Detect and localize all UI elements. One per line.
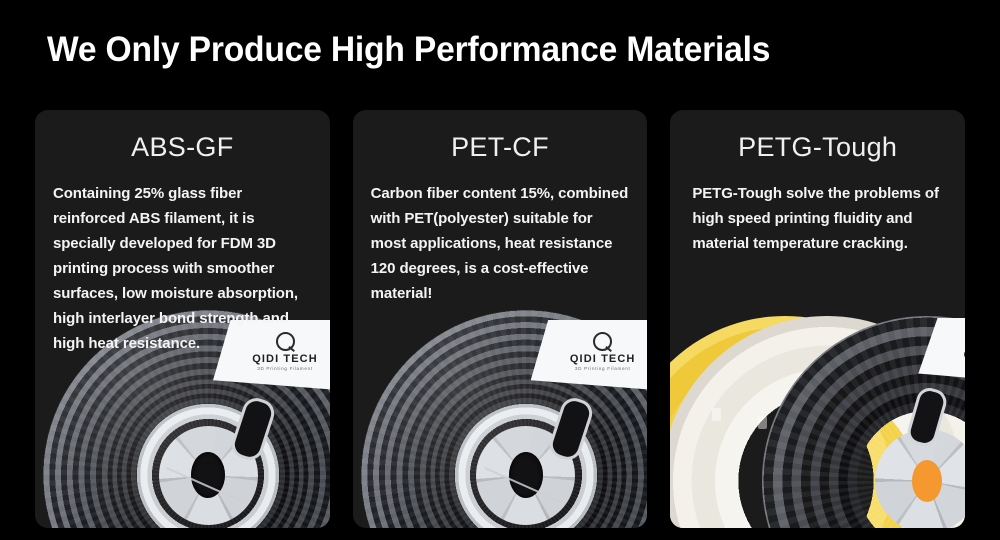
material-cards-row: ABS-GF Containing 25% glass fiber reinfo… xyxy=(35,110,965,528)
material-card-pet-cf[interactable]: PET-CF Carbon fiber content 15%, combine… xyxy=(353,110,648,528)
spool-clip xyxy=(712,408,721,421)
material-card-abs-gf[interactable]: ABS-GF Containing 25% glass fiber reinfo… xyxy=(35,110,330,528)
brand-tagline: 3D Printing Filament xyxy=(948,362,965,367)
spool-brand-label: QIDI TECH 3D Printing Filament xyxy=(531,320,648,390)
brand-tagline: 3D Printing Filament xyxy=(237,366,330,371)
brand-name: QIDI TECH xyxy=(555,353,648,365)
page-title: We Only Produce High Performance Materia… xyxy=(47,30,770,70)
brand-tagline: 3D Printing Filament xyxy=(555,366,648,371)
filament-spool-image: QIDI TECH 3D Printing Filament xyxy=(670,298,965,528)
card-description: Carbon fiber content 15%, combined with … xyxy=(371,181,630,306)
material-card-petg-tough[interactable]: PETG-Tough PETG-Tough solve the problems… xyxy=(670,110,965,528)
spool-clip xyxy=(758,416,767,429)
qidi-q-logo-icon xyxy=(593,332,612,351)
promo-banner: We Only Produce High Performance Materia… xyxy=(0,0,1000,540)
card-title: PETG-Tough xyxy=(670,132,965,163)
card-description: Containing 25% glass fiber reinforced AB… xyxy=(53,181,312,356)
filament-spool-image: QIDI TECH 3D Printing Filament xyxy=(353,298,648,528)
card-title: PET-CF xyxy=(353,132,648,163)
card-description: PETG-Tough solve the problems of high sp… xyxy=(692,181,953,256)
brand-name: QIDI TECH xyxy=(948,349,965,361)
card-title: ABS-GF xyxy=(35,132,330,163)
